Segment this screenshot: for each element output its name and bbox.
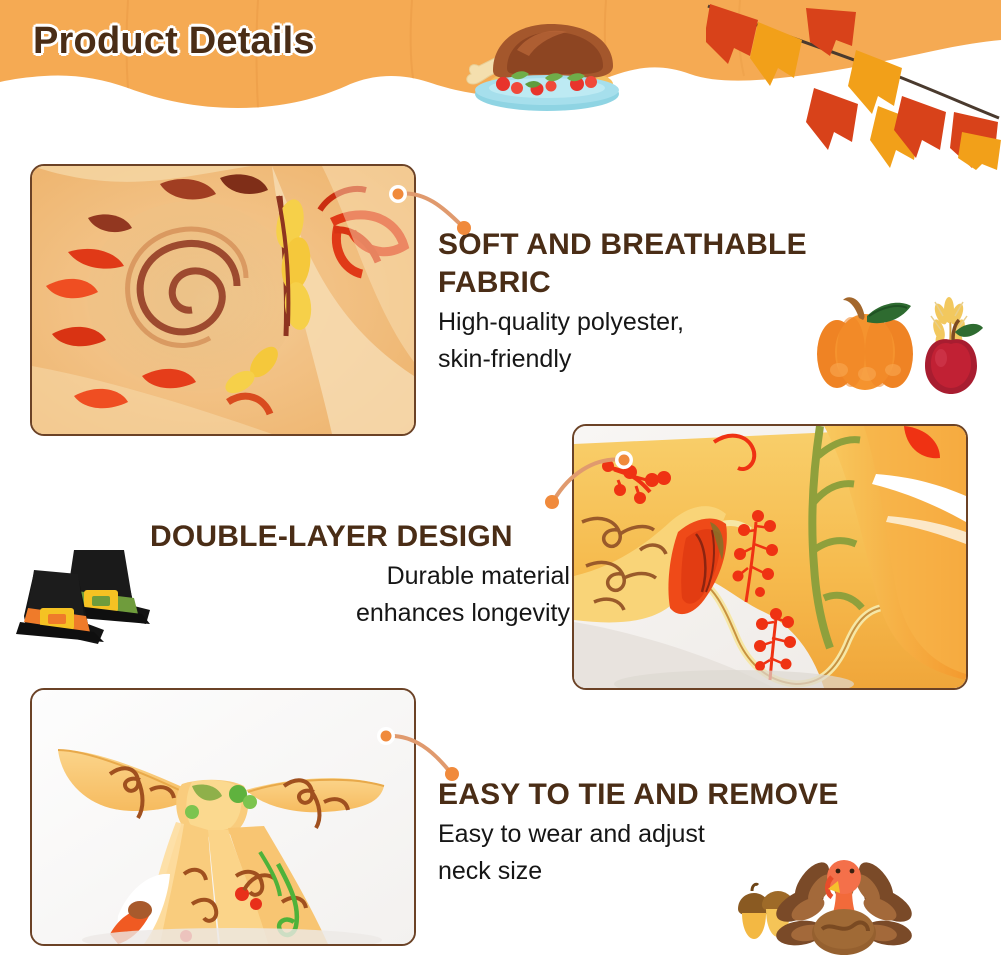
photo-swirled-printed-fabric-closeup [30, 164, 416, 436]
bunting-flags-icon [706, 0, 1001, 175]
connector-line-feature-1 [380, 178, 500, 248]
feature-body-3-line-1: Easy to wear and adjust [438, 816, 918, 854]
feature-body-2: Durable material enhances longevity [150, 558, 570, 633]
turkey-and-acorns-icon [728, 855, 928, 960]
feature-body-2-line-1: Durable material [150, 558, 570, 596]
feature-body-2-line-2: enhances longevity [150, 595, 570, 633]
feature-heading-3: EASY TO TIE AND REMOVE [438, 776, 918, 814]
feature-body-1-line-2: skin-friendly [438, 341, 868, 379]
photo-tied-bandana-knot [30, 688, 416, 946]
feature-heading-2: DOUBLE-LAYER DESIGN [150, 518, 570, 556]
feature-body-1: High-quality polyester, skin-friendly [438, 304, 868, 379]
page-title: Product Details [33, 20, 315, 63]
pumpkin-and-apple-icon [815, 282, 985, 402]
feature-text-soft-and-breathable-fabric: SOFT AND BREATHABLE FABRIC High-quality … [438, 226, 868, 379]
feature-heading-1: SOFT AND BREATHABLE FABRIC [438, 226, 868, 302]
roast-turkey-platter-icon [455, 4, 635, 117]
connector-line-feature-3 [368, 722, 488, 792]
feature-text-double-layer-design: DOUBLE-LAYER DESIGN Durable material enh… [150, 518, 570, 633]
pilgrim-hats-icon [12, 532, 162, 659]
connector-line-feature-2 [528, 442, 648, 522]
feature-body-1-line-1: High-quality polyester, [438, 304, 868, 342]
